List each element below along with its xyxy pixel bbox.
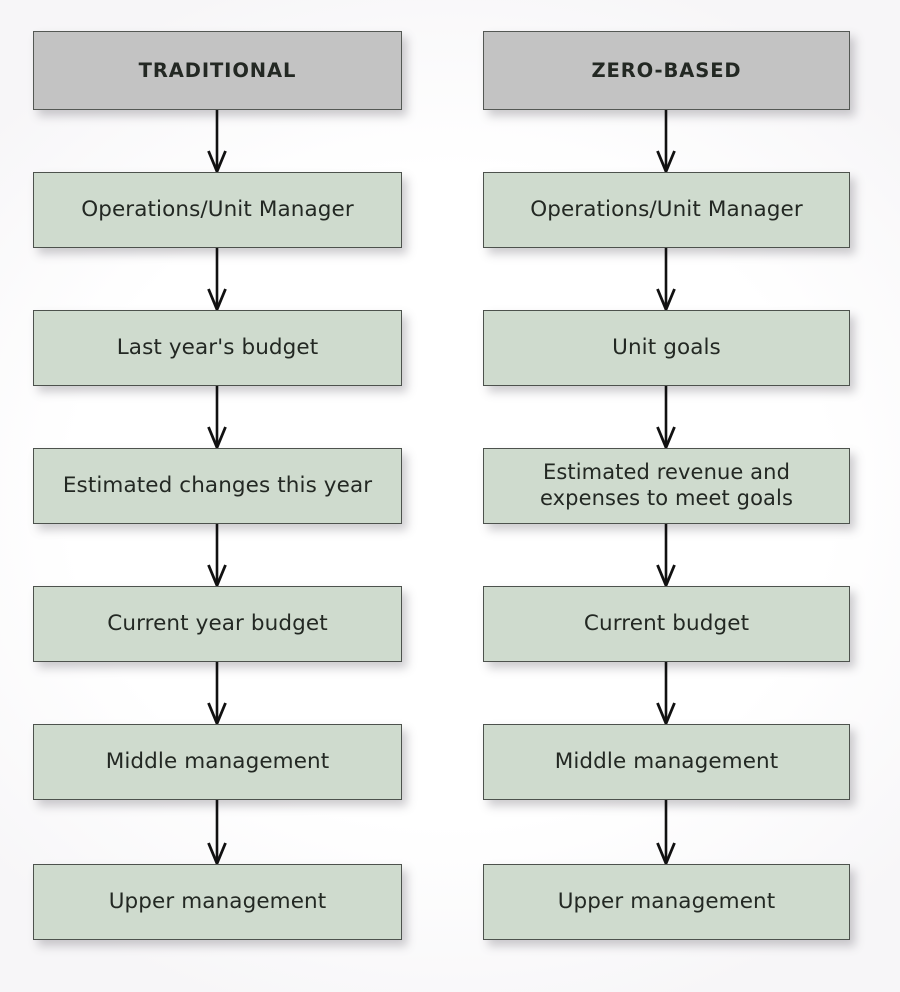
flow-step-box: Estimated revenue and expenses to meet g… bbox=[483, 448, 850, 524]
arrow-connector bbox=[654, 248, 678, 310]
flow-step-label: Operations/Unit Manager bbox=[71, 197, 364, 223]
flow-step-box: Unit goals bbox=[483, 310, 850, 386]
flow-step-label: Operations/Unit Manager bbox=[520, 197, 813, 223]
flow-step-label: Estimated revenue and expenses to meet g… bbox=[530, 460, 803, 511]
arrow-connector bbox=[205, 662, 229, 724]
flow-step-box: Current year budget bbox=[33, 586, 402, 662]
arrow-connector bbox=[205, 248, 229, 310]
arrow-connector bbox=[205, 386, 229, 448]
arrow-connector bbox=[205, 524, 229, 586]
flow-step-label: Last year's budget bbox=[107, 335, 329, 361]
arrow-connector bbox=[205, 800, 229, 864]
flow-step-label: Current year budget bbox=[97, 611, 338, 637]
flow-step-box: Upper management bbox=[33, 864, 402, 940]
flow-step-box: Upper management bbox=[483, 864, 850, 940]
arrow-connector bbox=[654, 524, 678, 586]
flow-step-box: Middle management bbox=[33, 724, 402, 800]
flow-step-label: Current budget bbox=[574, 611, 759, 637]
column-header-label: TRADITIONAL bbox=[129, 59, 307, 83]
flow-step-label: Middle management bbox=[545, 749, 789, 775]
flow-step-box: Last year's budget bbox=[33, 310, 402, 386]
flow-step-box: Estimated changes this year bbox=[33, 448, 402, 524]
flow-step-box: Operations/Unit Manager bbox=[33, 172, 402, 248]
column-header-traditional: TRADITIONAL bbox=[33, 31, 402, 110]
column-traditional: TRADITIONAL Operations/Unit Manager Last… bbox=[31, 0, 402, 992]
flow-step-box: Operations/Unit Manager bbox=[483, 172, 850, 248]
column-header-label: ZERO-BASED bbox=[581, 59, 751, 83]
flow-step-label: Estimated changes this year bbox=[53, 473, 382, 499]
flow-step-label: Upper management bbox=[548, 889, 786, 915]
column-header-zero-based: ZERO-BASED bbox=[483, 31, 850, 110]
flow-step-label: Unit goals bbox=[602, 335, 731, 361]
arrow-connector bbox=[205, 110, 229, 172]
flow-step-label: Upper management bbox=[99, 889, 337, 915]
arrow-connector bbox=[654, 110, 678, 172]
arrow-connector bbox=[654, 800, 678, 864]
flow-step-box: Middle management bbox=[483, 724, 850, 800]
column-zero-based: ZERO-BASED Operations/Unit Manager Unit … bbox=[481, 0, 852, 992]
flowchart-diagram: TRADITIONAL Operations/Unit Manager Last… bbox=[0, 0, 900, 992]
flow-step-label: Middle management bbox=[96, 749, 340, 775]
flow-step-box: Current budget bbox=[483, 586, 850, 662]
arrow-connector bbox=[654, 662, 678, 724]
arrow-connector bbox=[654, 386, 678, 448]
